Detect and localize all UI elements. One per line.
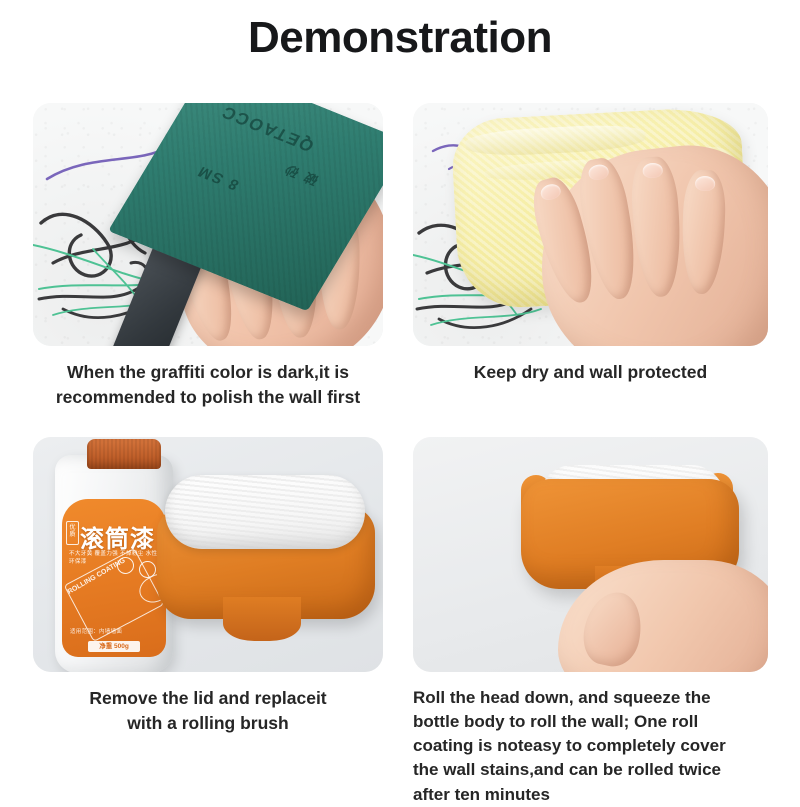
bottle-cap: [87, 439, 161, 469]
cloth-fold: [465, 123, 646, 158]
fingernail: [587, 163, 609, 181]
finger: [629, 155, 685, 298]
finger: [680, 169, 726, 294]
demonstration-steps-grid: QETAOCC 8 SM 破 砂 When the graffiti color…: [0, 100, 800, 800]
paint-bottle: 优质 滚筒漆 不大牙黄 覆盖力强 不掉粉尘 水性环保漆 ROLLING COAT…: [55, 455, 173, 672]
step-3-caption: Remove the lid and replaceit with a roll…: [33, 686, 383, 737]
step-2-photo: [413, 103, 768, 346]
step-card-4: Roll the head down, and squeeze the bott…: [413, 437, 768, 807]
roller-neck: [223, 597, 301, 641]
fingernail: [695, 176, 716, 192]
step-4-photo: [413, 437, 768, 672]
label-icon-badge: [117, 557, 134, 574]
sanding-block-print-line-1: QETAOCC: [217, 103, 318, 155]
roller-nap: [165, 475, 365, 549]
step-2-caption: Keep dry and wall protected: [413, 360, 768, 385]
label-quality-badge: 优质: [66, 521, 79, 545]
step-card-1: QETAOCC 8 SM 破 砂 When the graffiti color…: [33, 103, 383, 411]
sanding-block-print-line-2: 8 SM: [193, 162, 242, 193]
label-footer-text: 适用范围：内墙墙面: [70, 627, 122, 635]
step-4-caption: Roll the head down, and squeeze the bott…: [413, 686, 768, 807]
bottle-label: 优质 滚筒漆 不大牙黄 覆盖力强 不掉粉尘 水性环保漆 ROLLING COAT…: [62, 499, 166, 657]
fingernail: [539, 182, 562, 202]
label-icon-badge: [139, 561, 156, 578]
step-card-3: 优质 滚筒漆 不大牙黄 覆盖力强 不掉粉尘 水性环保漆 ROLLING COAT…: [33, 437, 383, 737]
page-title: Demonstration: [0, 14, 800, 62]
step-1-photo: QETAOCC 8 SM 破 砂: [33, 103, 383, 346]
fingernail: [642, 162, 663, 178]
step-1-caption: When the graffiti color is dark,it is re…: [33, 360, 383, 411]
sanding-block-print-line-3: 破 砂: [279, 160, 322, 190]
step-card-2: Keep dry and wall protected: [413, 103, 768, 385]
label-net-weight: 净重 500g: [88, 641, 140, 652]
step-3-photo: 优质 滚筒漆 不大牙黄 覆盖力强 不掉粉尘 水性环保漆 ROLLING COAT…: [33, 437, 383, 672]
